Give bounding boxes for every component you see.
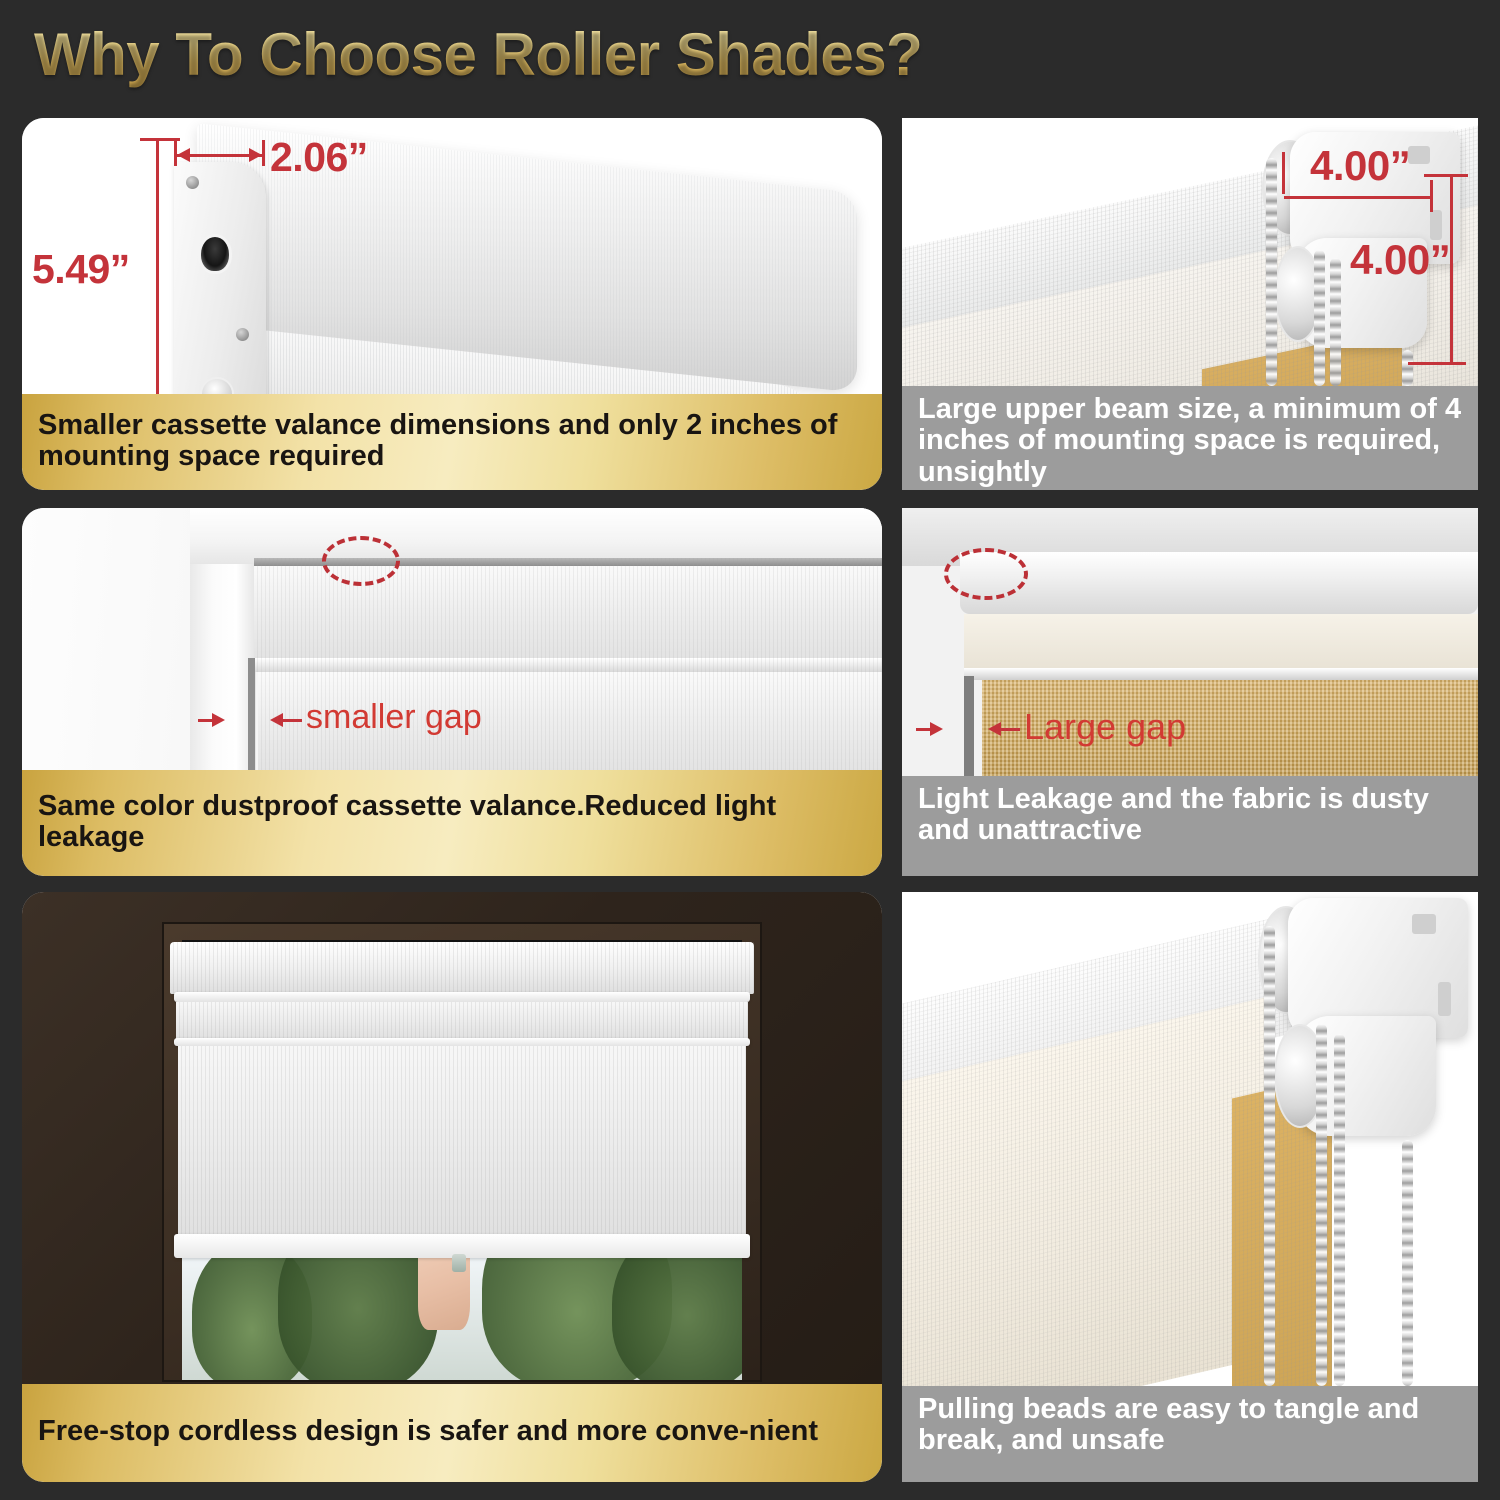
bracket-width-tick-right	[1430, 180, 1433, 212]
panel-mid-left: smaller gap Same color dustproof cassett…	[22, 508, 882, 876]
bracket-width-tick-left	[1282, 152, 1285, 194]
caption-bottom-right-text: Pulling beads are easy to tangle and bre…	[918, 1394, 1462, 1457]
panel-top-right: 4.00” 4.00” Large upper beam size, a min…	[902, 118, 1478, 490]
caption-bottom-left-text: Free-stop cordless design is safer and m…	[38, 1416, 866, 1447]
bracket-slot-icon	[1438, 982, 1451, 1016]
bead-chain[interactable]	[1316, 1024, 1327, 1386]
valance-lip-rail	[174, 992, 750, 1002]
panel-bottom-left-image	[22, 892, 882, 1384]
bracket-height-tick-bottom	[1408, 362, 1466, 365]
caption-top-left-text: Smaller cassette valance dimensions and …	[38, 410, 866, 473]
width-arrow-right-icon	[249, 148, 262, 162]
shade-fabric-upper	[176, 1002, 748, 1040]
gap-callout-label: Large gap	[1024, 706, 1186, 748]
highlight-circle-icon	[944, 548, 1028, 600]
bracket-slot-icon	[1408, 146, 1430, 164]
bracket-width-dimension-line	[1284, 196, 1432, 199]
panel-bottom-left: Free-stop cordless design is safer and m…	[22, 892, 882, 1482]
infographic-page: Why To Choose Roller Shades? 2.06”	[0, 0, 1500, 1500]
cassette-end-cap	[174, 162, 266, 418]
panel-mid-left-image: smaller gap	[22, 508, 882, 770]
bead-chain	[1314, 250, 1325, 386]
mid-rail	[174, 1038, 750, 1046]
window-frame	[162, 922, 762, 1382]
bead-chain	[1402, 350, 1413, 386]
gap-arrow-shaft	[198, 719, 218, 722]
gap-arrow-shaft	[998, 728, 1020, 731]
gap-arrow-shaft	[280, 719, 302, 722]
panel-bottom-right: Pulling beads are easy to tangle and bre…	[902, 892, 1478, 1482]
shade-fabric-main	[178, 1046, 746, 1236]
pull-tab-handle[interactable]	[452, 1254, 466, 1272]
bead-chain[interactable]	[1402, 1140, 1413, 1386]
caption-mid-right-text: Light Leakage and the fabric is dusty an…	[918, 784, 1462, 847]
highlight-circle-icon	[322, 536, 400, 586]
bead-chain[interactable]	[1264, 926, 1275, 1386]
panel-top-right-image: 4.00” 4.00”	[902, 118, 1478, 386]
width-arrow-left-icon	[177, 148, 190, 162]
gap-indicator	[964, 676, 974, 776]
bead-chain	[1330, 258, 1341, 386]
end-cap-screw-icon	[186, 176, 199, 189]
height-dimension-label: 5.49”	[32, 246, 130, 293]
panel-top-left-image: 2.06” 5.49”	[22, 118, 882, 418]
fabric-roll	[964, 614, 1478, 668]
gap-arrow-shaft	[916, 728, 934, 731]
caption-bottom-left: Free-stop cordless design is safer and m…	[22, 1384, 882, 1482]
panel-top-left: 2.06” 5.49” Smaller cassette valance dim…	[22, 118, 882, 490]
end-cap-hole-icon	[198, 234, 232, 274]
caption-mid-right: Light Leakage and the fabric is dusty an…	[902, 776, 1478, 876]
bracket-slot-icon	[1412, 914, 1436, 934]
panel-bottom-right-image	[902, 892, 1478, 1386]
tube-bottom-edge	[964, 668, 1478, 680]
bead-chain[interactable]	[1334, 1034, 1345, 1386]
panel-mid-right-image: Large gap	[902, 508, 1478, 776]
bead-chain	[1266, 158, 1277, 386]
bracket-height-tick-top	[1424, 174, 1468, 177]
height-dimension-line	[156, 138, 159, 418]
panel-mid-right: Large gap Light Leakage and the fabric i…	[902, 508, 1478, 876]
width-dimension-label: 2.06”	[270, 134, 368, 181]
bracket-width-label: 4.00”	[1310, 142, 1410, 190]
width-dimension-tick-right	[262, 140, 265, 166]
gap-callout-label: smaller gap	[306, 698, 482, 737]
window-frame-head	[190, 508, 882, 564]
caption-mid-left-text: Same color dustproof cassette valance.Re…	[38, 791, 866, 854]
caption-mid-left: Same color dustproof cassette valance.Re…	[22, 770, 882, 876]
caption-top-left: Smaller cassette valance dimensions and …	[22, 394, 882, 490]
caption-top-right-text: Large upper beam size, a minimum of 4 in…	[918, 394, 1462, 488]
caption-bottom-right: Pulling beads are easy to tangle and bre…	[902, 1386, 1478, 1482]
page-title: Why To Choose Roller Shades?	[34, 20, 922, 89]
valance-bottom-rail	[254, 658, 882, 672]
bracket-height-dimension-line	[1450, 174, 1453, 364]
bracket-height-label: 4.00”	[1350, 236, 1450, 284]
height-dimension-tick-top	[140, 138, 180, 141]
caption-top-right: Large upper beam size, a minimum of 4 in…	[902, 386, 1478, 490]
roller-tube	[960, 552, 1478, 614]
gap-indicator	[248, 658, 255, 770]
cassette-valance	[170, 942, 754, 994]
end-cap-screw-icon	[236, 328, 249, 341]
